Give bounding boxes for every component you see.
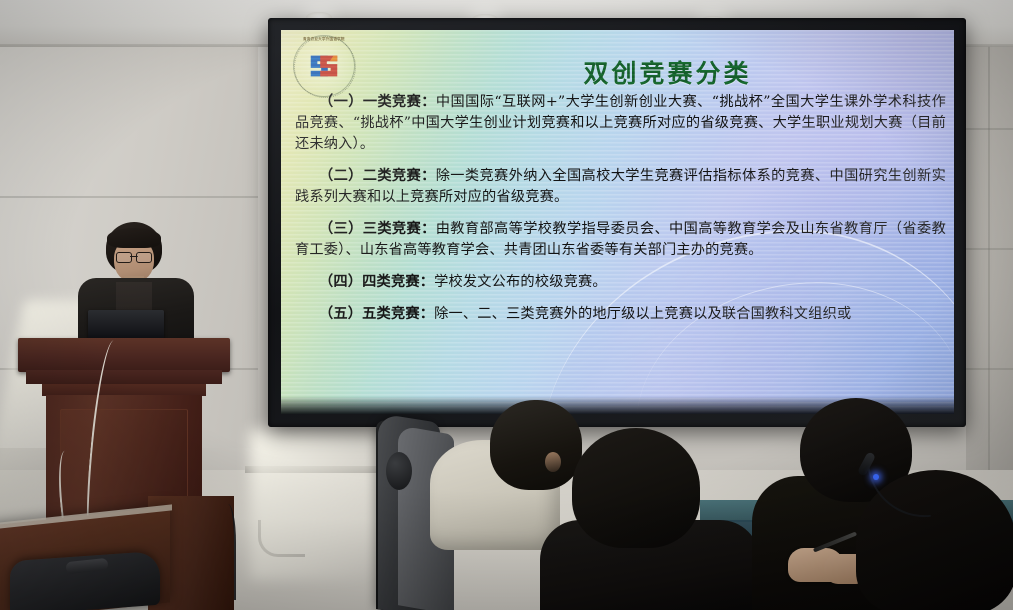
audience-member-1-head xyxy=(490,400,582,490)
paragraph-label: （二）二类竞赛： xyxy=(319,168,436,184)
paragraph-text: 除一、二、三类竞赛外的地厅级以上竞赛以及联合国教科文组织或 xyxy=(434,306,851,322)
slide-paragraph: （三）三类竞赛：由教育部高等学校教学指导委员会、中国高等教育学会及山东省教育厅（… xyxy=(295,219,946,261)
wall-seam xyxy=(0,196,258,198)
seat-hinge xyxy=(386,452,412,490)
slide-body: （一）一类竞赛：中国国际“互联网+”大学生创新创业大赛、“挑战杯”全国大学生课外… xyxy=(295,92,946,336)
emblem-ring-caption: 青岛农业大学外国语学院 xyxy=(303,37,345,42)
slide-paragraph: （四）四类竞赛：学校发文公布的校级竞赛。 xyxy=(295,272,946,293)
slide-paragraph: （五）五类竞赛：除一、二、三类竞赛外的地厅级以上竞赛以及联合国教科文组织或 xyxy=(295,304,946,325)
slide-paragraph: （二）二类竞赛：除一类竞赛外纳入全国高校大学生竞赛评估指标体系的竞赛、中国研究生… xyxy=(295,166,946,208)
paragraph-label: （三）三类竞赛： xyxy=(319,221,436,237)
audience-member-1-ear xyxy=(545,452,561,472)
podium-top xyxy=(18,338,230,372)
paragraph-label: （一）一类竞赛： xyxy=(319,94,436,110)
audience-member-2 xyxy=(572,428,700,548)
presenter-fringe xyxy=(107,228,161,248)
wall-cable xyxy=(216,504,236,600)
glasses-icon xyxy=(116,252,152,261)
microphone-led-indicator xyxy=(873,474,879,480)
presentation-screen: 青岛农业大学外国语学院 双创竞赛分类 （一）一类竞赛：中国国际“互联网+”大学生… xyxy=(281,30,954,414)
slide-paragraph: （一）一类竞赛：中国国际“互联网+”大学生创新创业大赛、“挑战杯”全国大学生课外… xyxy=(295,92,946,155)
slide-title: 双创竞赛分类 xyxy=(281,54,954,90)
slide-content: 青岛农业大学外国语学院 双创竞赛分类 （一）一类竞赛：中国国际“互联网+”大学生… xyxy=(281,30,954,414)
podium-lip xyxy=(26,370,222,384)
paragraph-label: （四）四类竞赛： xyxy=(319,274,434,290)
paragraph-text: 学校发文公布的校级竞赛。 xyxy=(434,274,607,290)
gooseneck-microphone xyxy=(866,456,930,526)
paragraph-label: （五）五类竞赛： xyxy=(319,306,434,322)
lecture-hall-photo: 青岛农业大学外国语学院 双创竞赛分类 （一）一类竞赛：中国国际“互联网+”大学生… xyxy=(0,0,1013,610)
microphone-stem xyxy=(867,457,931,523)
wall-seam xyxy=(988,20,990,490)
